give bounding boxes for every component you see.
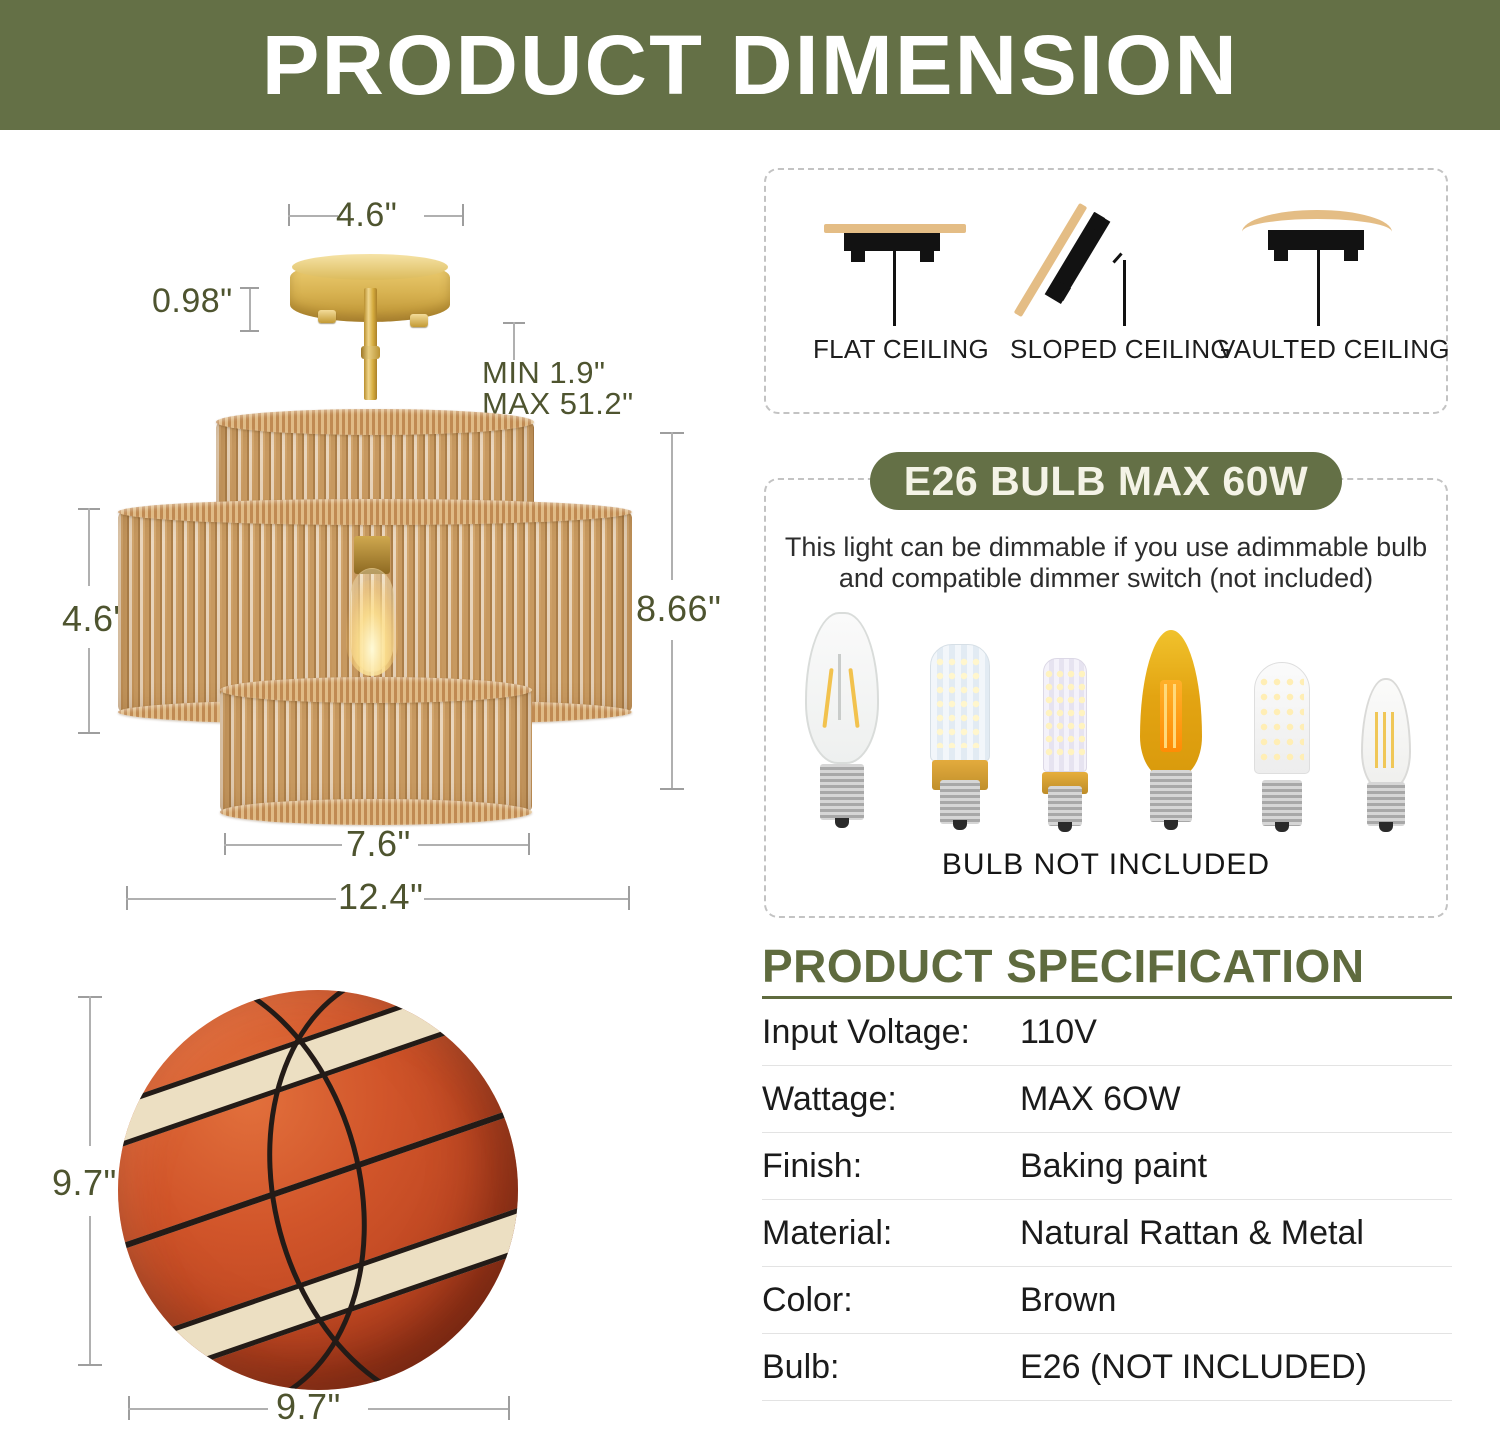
bulb-clear-candle-filament [1356, 678, 1416, 830]
spec-value: MAX 6OW [1020, 1080, 1452, 1119]
dim-line-total-top [671, 432, 673, 580]
spec-key: Bulb: [762, 1348, 1020, 1387]
flat-ceiling-icon [796, 188, 1006, 328]
spec-value: E26 (NOT INCLUDED) [1020, 1348, 1452, 1387]
dim-line-total-bottom [671, 640, 673, 790]
spec-value: Brown [1020, 1281, 1452, 1320]
basketball-image [118, 990, 518, 1390]
dim-line-shade-top [88, 508, 90, 586]
dim-line-shade-bottom [88, 648, 90, 734]
spec-key: Finish: [762, 1147, 1020, 1186]
dim-cap-ballw-right [508, 1396, 510, 1420]
spec-value: Natural Rattan & Metal [1020, 1214, 1452, 1253]
spec-value: Baking paint [1020, 1147, 1452, 1186]
e26-bulb-badge: E26 BULB MAX 60W [870, 452, 1342, 510]
dim-ball-width: 9.7" [276, 1386, 341, 1428]
dim-canopy-width: 4.6" [336, 196, 397, 235]
dimmable-note-line2: and compatible dimmer switch (not includ… [776, 561, 1436, 596]
dim-top-tier-width: 7.6" [346, 823, 411, 865]
table-row: Finish: Baking paint [762, 1133, 1452, 1200]
table-row: Bulb: E26 (NOT INCLUDED) [762, 1334, 1452, 1401]
bulb-not-included-label: BULB NOT INCLUDED [764, 848, 1448, 882]
dim-line-76-left [224, 844, 342, 846]
bulb-led-corn-large [926, 644, 994, 830]
shade-tier-bottom [220, 690, 532, 812]
dim-line-ballw-left [128, 1408, 268, 1410]
dim-line-ball-bottom [89, 1216, 91, 1366]
canopy-plate-top [292, 254, 448, 280]
dim-line-right [424, 215, 462, 217]
product-specification-section: PRODUCT SPECIFICATION Input Voltage: 110… [762, 942, 1452, 1401]
spec-key: Input Voltage: [762, 1013, 1020, 1052]
dim-bottom-width: 12.4" [338, 876, 423, 918]
ceiling-option-flat: FLAT CEILING [796, 188, 1006, 388]
spec-section-title: PRODUCT SPECIFICATION [762, 942, 1452, 990]
ceiling-option-vaulted: VAULTED CEILING [1218, 188, 1434, 388]
bulb-st64-filament [800, 612, 884, 830]
dim-cap-total-bottom [660, 788, 684, 790]
dim-cap-124-right [628, 886, 630, 910]
bulb-led-tube [1250, 652, 1314, 830]
ceiling-label-vaulted: VAULTED CEILING [1218, 334, 1434, 365]
bulb-led-corn-slim [1037, 652, 1093, 830]
compatible-bulbs-row [800, 600, 1416, 830]
spec-key: Wattage: [762, 1080, 1020, 1119]
dim-line-left [288, 215, 338, 217]
drop-rod-joint [361, 346, 380, 359]
dim-line-ball-top [89, 996, 91, 1146]
vaulted-ceiling-icon [1218, 188, 1434, 328]
bulb-glow [346, 580, 398, 676]
dim-ball-height: 9.7" [52, 1162, 117, 1204]
basketball-sphere [118, 990, 518, 1390]
dim-line-124-right [424, 898, 628, 900]
dim-line-124-left [126, 898, 336, 900]
dim-cap-shade-bottom [78, 732, 100, 734]
bulb-amber-candle [1135, 630, 1207, 830]
dimmable-note-line1: This light can be dimmable if you use ad… [776, 530, 1436, 565]
table-row: Input Voltage: 110V [762, 999, 1452, 1066]
spec-key: Color: [762, 1281, 1020, 1320]
canopy-screw-right [410, 314, 428, 327]
table-row: Material: Natural Rattan & Metal [762, 1200, 1452, 1267]
page-header-banner: PRODUCT DIMENSION [0, 0, 1500, 130]
sloped-ceiling-icon [1010, 188, 1222, 328]
drop-rod [364, 288, 377, 400]
ceiling-types-panel: FLAT CEILING SLOPED CEILING VAULTED CEIL… [764, 168, 1448, 414]
spec-value: 110V [1020, 1013, 1452, 1052]
ceiling-label-sloped: SLOPED CEILING [1010, 334, 1222, 365]
dim-cap-right [462, 204, 464, 226]
dim-line-ballw-right [368, 1408, 508, 1410]
dim-cap-ball-bottom [78, 1364, 102, 1366]
ceiling-label-flat: FLAT CEILING [796, 334, 1006, 365]
page-title: PRODUCT DIMENSION [261, 17, 1238, 114]
spec-key: Material: [762, 1214, 1020, 1253]
ceiling-option-sloped: SLOPED CEILING [1010, 188, 1222, 388]
ceiling-light-illustration [110, 250, 650, 830]
table-row: Color: Brown [762, 1267, 1452, 1334]
dim-line-76-right [418, 844, 528, 846]
table-row: Wattage: MAX 6OW [762, 1066, 1452, 1133]
dim-cap-76-right [528, 833, 530, 855]
canopy-screw-left [318, 310, 336, 323]
